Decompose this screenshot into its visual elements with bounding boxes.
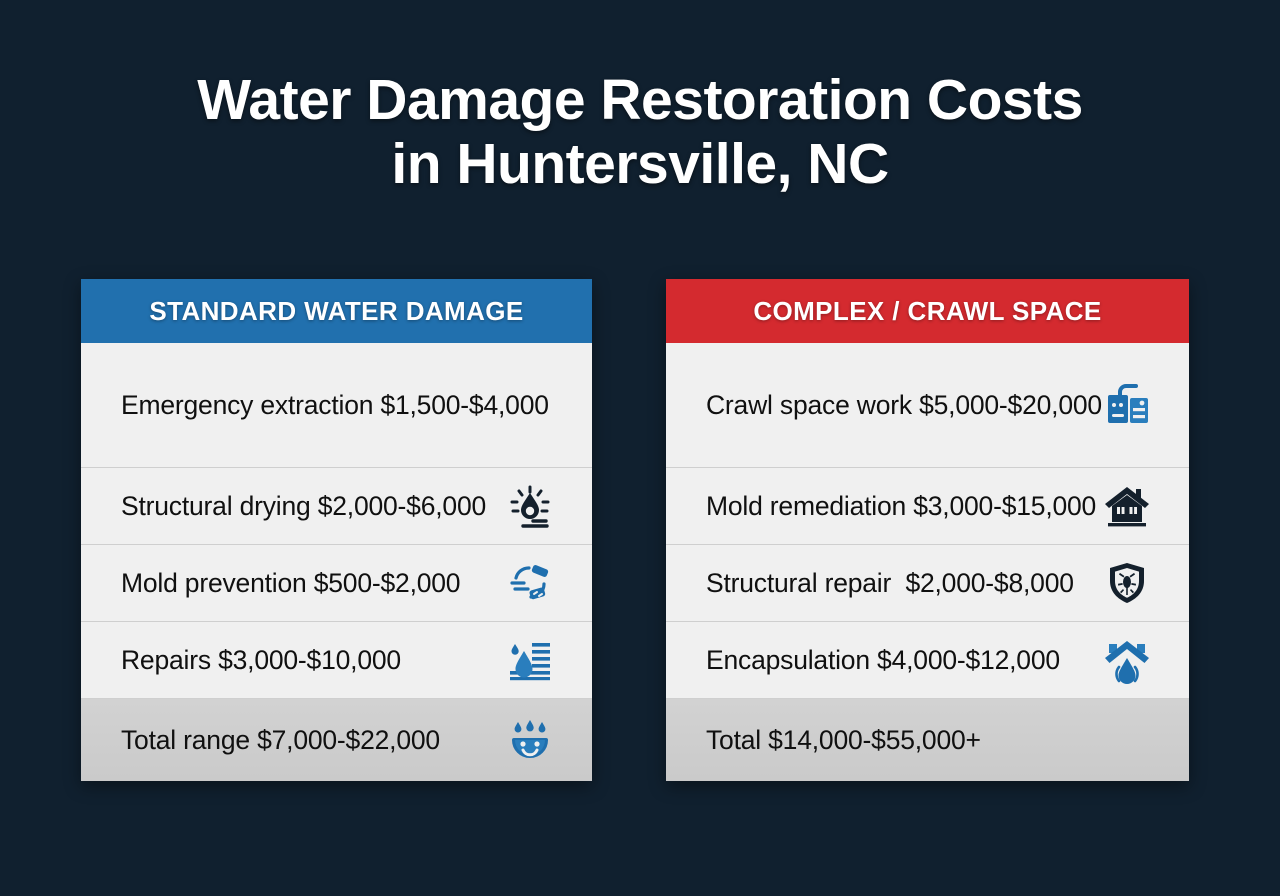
page-title: Water Damage Restoration Costs in Hunter…	[0, 68, 1280, 196]
dehumidifier-icon	[1102, 379, 1154, 431]
row-label: Mold prevention $500-$2,000	[121, 568, 460, 599]
title-line-1: Water Damage Restoration Costs	[0, 68, 1280, 132]
none-icon	[1101, 714, 1153, 766]
row-label: Mold remediation $3,000-$15,000	[706, 491, 1096, 522]
row-label: Crawl space work $5,000-$20,000	[706, 390, 1102, 421]
water-level-icon	[504, 634, 556, 686]
house-icon	[1101, 480, 1153, 532]
table-row: Structural drying $2,000-$6,000	[81, 468, 592, 545]
spray-clean-icon	[504, 557, 556, 609]
table-row: Crawl space work $5,000-$20,000	[666, 343, 1189, 468]
card-header-standard: STANDARD WATER DAMAGE	[81, 279, 592, 343]
table-row: Emergency extraction $1,500-$4,000	[81, 343, 592, 468]
none-icon	[549, 379, 592, 431]
row-label: Total $14,000-$55,000+	[706, 725, 981, 756]
row-label: Total range $7,000-$22,000	[121, 725, 440, 756]
card-standard-water-damage: STANDARD WATER DAMAGE Emergency extracti…	[81, 279, 592, 781]
table-row-total: Total $14,000-$55,000+	[666, 699, 1189, 781]
table-row: Structural repair $2,000-$8,000	[666, 545, 1189, 622]
row-list-complex: Crawl space work $5,000-$20,000	[666, 343, 1189, 781]
row-label: Structural drying $2,000-$6,000	[121, 491, 486, 522]
table-row: Encapsulation $4,000-$12,000	[666, 622, 1189, 699]
card-complex-crawl-space: COMPLEX / CRAWL SPACE Crawl space work $…	[666, 279, 1189, 781]
row-label: Emergency extraction $1,500-$4,000	[121, 390, 549, 421]
house-drop-icon	[1101, 634, 1153, 686]
title-line-2: in Huntersville, NC	[0, 132, 1280, 196]
row-label: Repairs $3,000-$10,000	[121, 645, 401, 676]
water-smile-icon	[504, 714, 556, 766]
shield-pest-icon	[1101, 557, 1153, 609]
table-row-total: Total range $7,000-$22,000	[81, 699, 592, 781]
row-list-standard: Emergency extraction $1,500-$4,000 Struc…	[81, 343, 592, 781]
card-header-complex: COMPLEX / CRAWL SPACE	[666, 279, 1189, 343]
drying-icon	[504, 480, 556, 532]
table-row: Repairs $3,000-$10,000	[81, 622, 592, 699]
row-label: Encapsulation $4,000-$12,000	[706, 645, 1060, 676]
table-row: Mold remediation $3,000-$15,000	[666, 468, 1189, 545]
infographic-canvas: Water Damage Restoration Costs in Hunter…	[0, 0, 1280, 896]
table-row: Mold prevention $500-$2,000	[81, 545, 592, 622]
row-label: Structural repair $2,000-$8,000	[706, 568, 1074, 599]
